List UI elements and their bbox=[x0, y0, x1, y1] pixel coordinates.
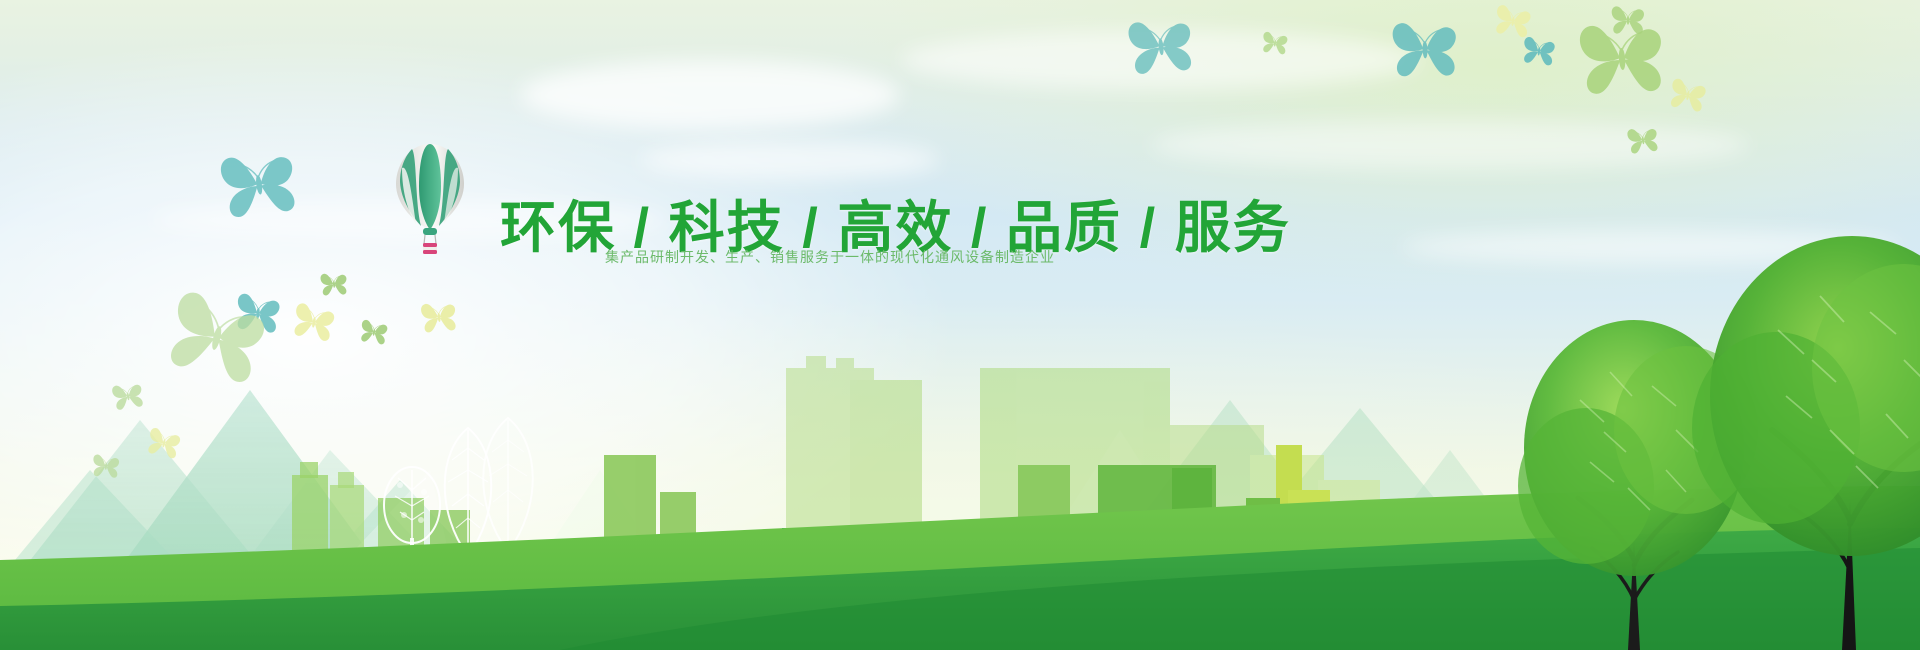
butterfly-right-green-bottom bbox=[1623, 120, 1664, 161]
butterfly-right-teal-large bbox=[1119, 4, 1203, 88]
butterfly-pale-green-small-2 bbox=[89, 449, 123, 483]
butterfly-left-mini-green bbox=[317, 267, 351, 301]
butterfly-left-large-teal bbox=[209, 134, 308, 233]
butterfly-left-mini-green-2 bbox=[356, 314, 392, 350]
tree-right bbox=[1692, 236, 1920, 650]
butterfly-left-yellow-2 bbox=[416, 294, 462, 340]
hot-air-balloon bbox=[390, 140, 470, 260]
butterfly-right-yellow-top bbox=[1489, 0, 1536, 45]
butterfly-pale-yellow-small bbox=[141, 420, 186, 465]
butterfly-right-yellow-small bbox=[1664, 71, 1713, 120]
butterfly-right-green-far bbox=[1259, 27, 1292, 60]
butterfly-left-yellow bbox=[286, 294, 342, 350]
butterfly-right-green-top bbox=[1608, 0, 1648, 40]
page-subtitle: 集产品研制开发、生产、销售服务于一体的现代化通风设备制造企业 bbox=[605, 247, 1055, 267]
butterfly-pale-green-small bbox=[107, 375, 149, 417]
butterfly-right-teal-mid bbox=[1385, 9, 1466, 90]
eco-banner: 环保 / 科技 / 高效 / 品质 / 服务 集产品研制开发、生产、销售服务于一… bbox=[0, 0, 1920, 650]
